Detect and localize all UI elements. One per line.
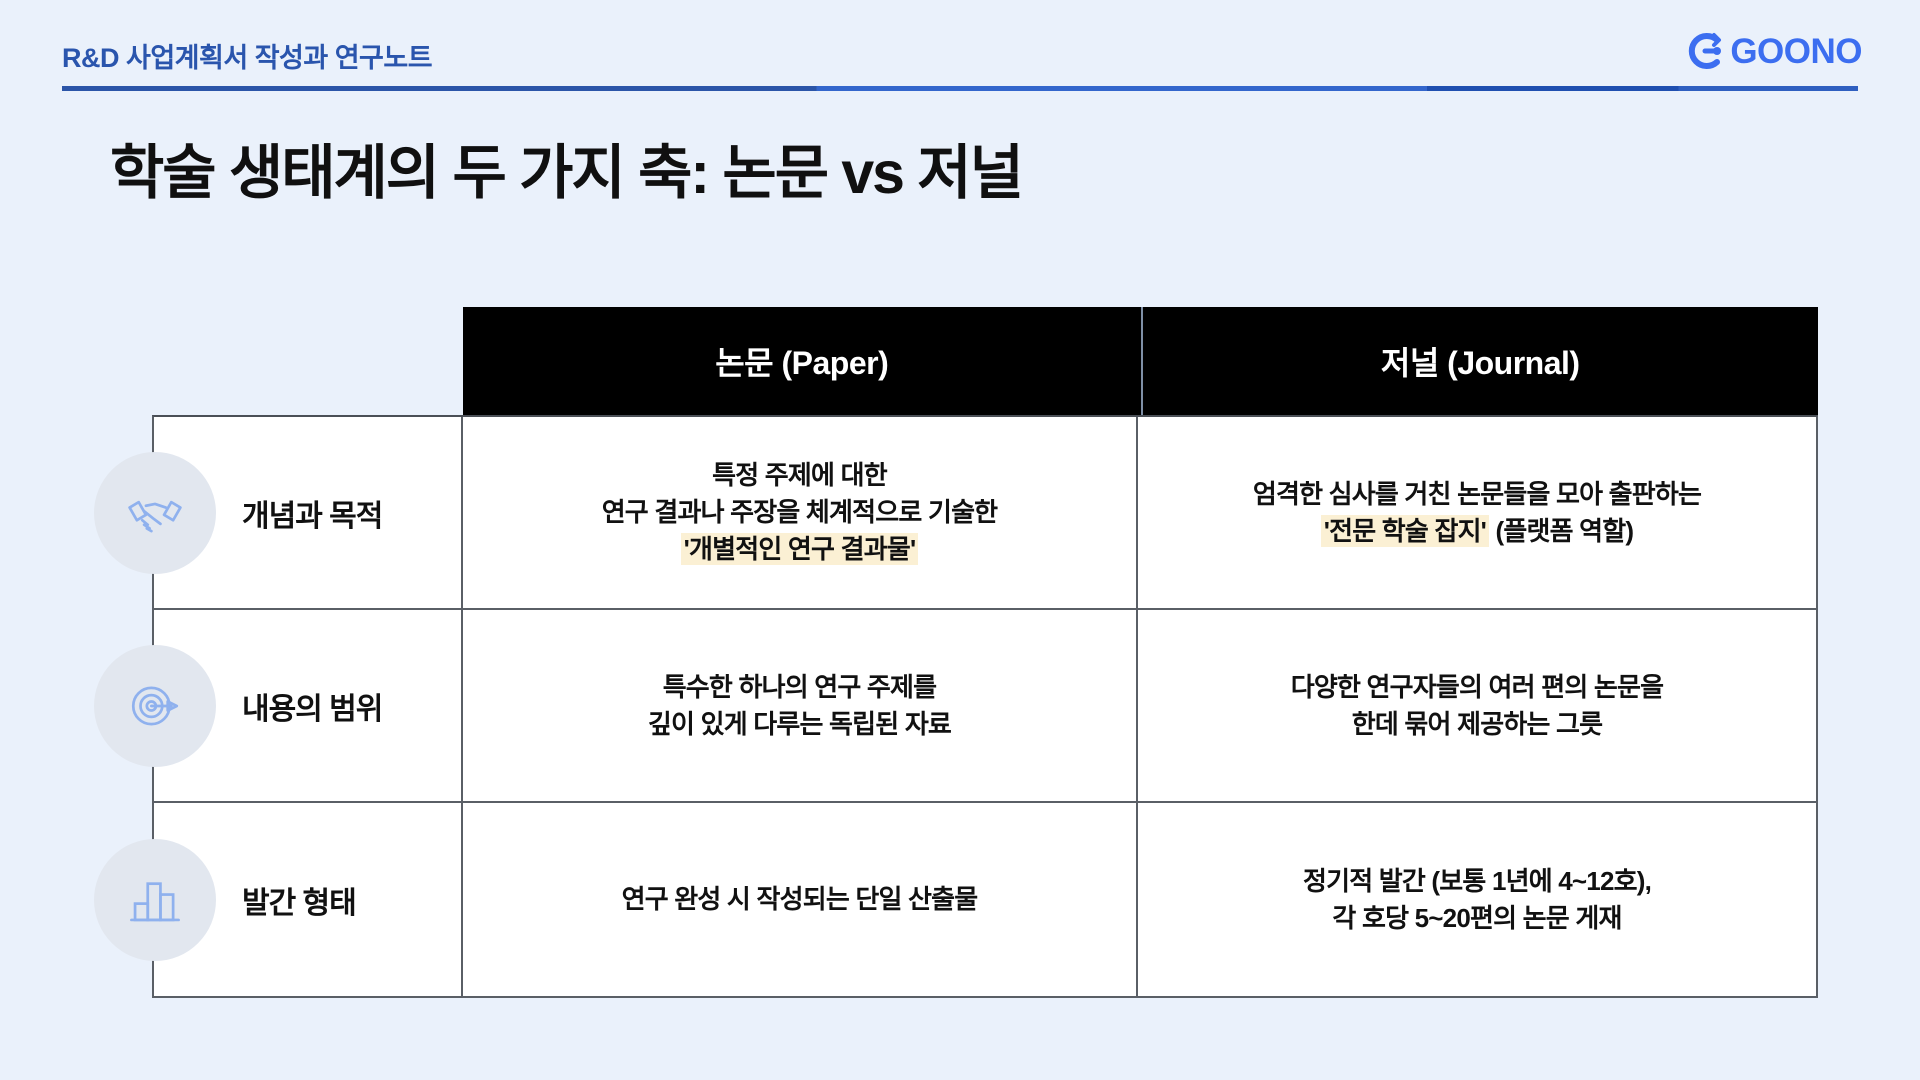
journal-cell: 다양한 연구자들의 여러 편의 논문을한데 묶어 제공하는 그릇 xyxy=(1136,610,1816,801)
row-label-cell: 개념과 목적 xyxy=(154,417,463,608)
cell-text: 깊이 있게 다루는 독립된 자료 xyxy=(648,709,951,739)
brand-logo: GOONO xyxy=(1684,31,1862,71)
cell-text: 연구 결과나 주장을 체계적으로 기술한 xyxy=(602,497,998,527)
row-label: 발간 형태 xyxy=(242,878,356,922)
cell-text: 각 호당 5~20편의 논문 게재 xyxy=(1332,903,1621,933)
table-row: 개념과 목적특정 주제에 대한연구 결과나 주장을 체계적으로 기술한'개별적인… xyxy=(154,417,1816,610)
handshake-icon xyxy=(126,484,184,542)
bar-chart-icon xyxy=(126,871,184,929)
highlighted-phrase: '개별적인 연구 결과물' xyxy=(681,533,919,565)
cell-line: 정기적 발간 (보통 1년에 4~12호), xyxy=(1303,863,1651,900)
cell-text: 특수한 하나의 연구 주제를 xyxy=(663,672,937,702)
highlighted-phrase: '전문 학술 잡지' xyxy=(1321,515,1489,547)
row-label-cell: 내용의 범위 xyxy=(154,610,463,801)
journal-cell-text: 다양한 연구자들의 여러 편의 논문을한데 묶어 제공하는 그릇 xyxy=(1291,669,1664,743)
paper-cell: 연구 완성 시 작성되는 단일 산출물 xyxy=(463,803,1136,996)
cell-text: 연구 완성 시 작성되는 단일 산출물 xyxy=(622,884,978,914)
cell-line: '전문 학술 잡지' (플랫폼 역할) xyxy=(1253,513,1701,550)
goono-g-mark-icon xyxy=(1684,31,1726,71)
header-title: R&D 사업계획서 작성과 연구노트 xyxy=(62,36,432,75)
row-label-cell: 발간 형태 xyxy=(154,803,463,996)
brand-name: GOONO xyxy=(1730,34,1862,69)
cell-line: 한데 묶어 제공하는 그릇 xyxy=(1291,706,1664,743)
cell-text: 특정 주제에 대한 xyxy=(712,460,887,490)
cell-line: 연구 결과나 주장을 체계적으로 기술한 xyxy=(602,494,998,531)
cell-line: 엄격한 심사를 거친 논문들을 모아 출판하는 xyxy=(1253,476,1701,513)
page-title: 학술 생태계의 두 가지 축: 논문 vs 저널 xyxy=(110,125,1022,210)
target-icon xyxy=(126,677,184,735)
cell-text: (플랫폼 역할) xyxy=(1489,516,1633,546)
paper-cell-text: 연구 완성 시 작성되는 단일 산출물 xyxy=(622,881,978,918)
slide-header: R&D 사업계획서 작성과 연구노트 GOONO xyxy=(0,0,1920,100)
journal-cell: 정기적 발간 (보통 1년에 4~12호),각 호당 5~20편의 논문 게재 xyxy=(1136,803,1816,996)
table-header-row: 논문 (Paper) 저널 (Journal) xyxy=(463,307,1818,415)
cell-line: '개별적인 연구 결과물' xyxy=(602,531,998,568)
cell-line: 특정 주제에 대한 xyxy=(602,457,998,494)
cell-line: 특수한 하나의 연구 주제를 xyxy=(648,669,951,706)
cell-line: 깊이 있게 다루는 독립된 자료 xyxy=(648,706,951,743)
row-label: 내용의 범위 xyxy=(242,684,382,728)
table-body: 개념과 목적특정 주제에 대한연구 결과나 주장을 체계적으로 기술한'개별적인… xyxy=(152,415,1818,998)
column-header-paper: 논문 (Paper) xyxy=(463,307,1141,415)
journal-cell: 엄격한 심사를 거친 논문들을 모아 출판하는'전문 학술 잡지' (플랫폼 역… xyxy=(1136,417,1816,608)
journal-cell-text: 엄격한 심사를 거친 논문들을 모아 출판하는'전문 학술 잡지' (플랫폼 역… xyxy=(1253,476,1701,550)
cell-line: 연구 완성 시 작성되는 단일 산출물 xyxy=(622,881,978,918)
slide-root: R&D 사업계획서 작성과 연구노트 GOONO 학술 생태계의 두 가지 축:… xyxy=(0,0,1920,1080)
row-label: 개념과 목적 xyxy=(242,491,382,535)
cell-text: 다양한 연구자들의 여러 편의 논문을 xyxy=(1291,672,1664,702)
paper-cell: 특수한 하나의 연구 주제를깊이 있게 다루는 독립된 자료 xyxy=(463,610,1136,801)
row-icon-badge xyxy=(94,645,216,767)
paper-cell-text: 특정 주제에 대한연구 결과나 주장을 체계적으로 기술한'개별적인 연구 결과… xyxy=(602,457,998,568)
paper-cell-text: 특수한 하나의 연구 주제를깊이 있게 다루는 독립된 자료 xyxy=(648,669,951,743)
row-icon-badge xyxy=(94,839,216,961)
cell-line: 각 호당 5~20편의 논문 게재 xyxy=(1303,900,1651,937)
column-header-journal: 저널 (Journal) xyxy=(1141,307,1819,415)
row-icon-badge xyxy=(94,452,216,574)
table-row: 내용의 범위특수한 하나의 연구 주제를깊이 있게 다루는 독립된 자료다양한 … xyxy=(154,610,1816,803)
header-divider xyxy=(62,86,1858,91)
cell-text: 정기적 발간 (보통 1년에 4~12호), xyxy=(1303,866,1651,896)
comparison-table: 논문 (Paper) 저널 (Journal) 개념과 목적특정 주제에 대한연… xyxy=(152,307,1818,998)
paper-cell: 특정 주제에 대한연구 결과나 주장을 체계적으로 기술한'개별적인 연구 결과… xyxy=(463,417,1136,608)
journal-cell-text: 정기적 발간 (보통 1년에 4~12호),각 호당 5~20편의 논문 게재 xyxy=(1303,863,1651,937)
cell-line: 다양한 연구자들의 여러 편의 논문을 xyxy=(1291,669,1664,706)
cell-text: 엄격한 심사를 거친 논문들을 모아 출판하는 xyxy=(1253,479,1701,509)
cell-text: 한데 묶어 제공하는 그릇 xyxy=(1352,709,1602,739)
table-row: 발간 형태연구 완성 시 작성되는 단일 산출물정기적 발간 (보통 1년에 4… xyxy=(154,803,1816,996)
